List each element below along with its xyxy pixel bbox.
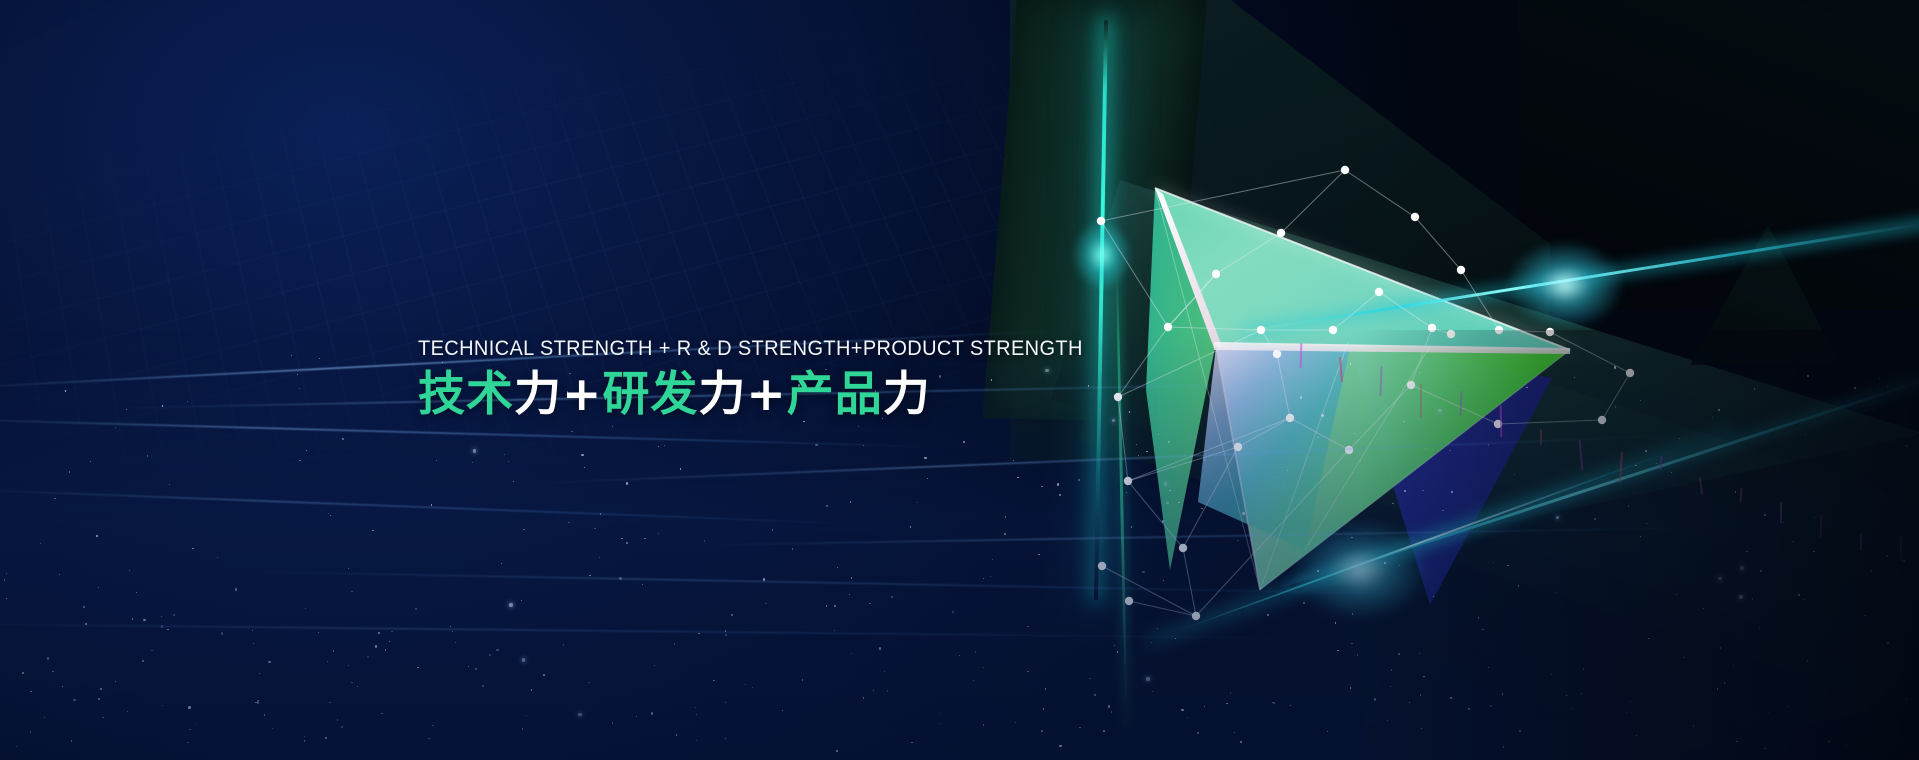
particle-dot xyxy=(1126,492,1127,493)
particle-dot xyxy=(1615,406,1616,407)
particle-dot xyxy=(1169,490,1170,491)
particle-dot xyxy=(299,460,300,461)
particle-dot xyxy=(473,449,477,453)
particle-dot xyxy=(1718,577,1722,581)
particle-dot xyxy=(415,608,417,610)
particle-dot xyxy=(30,731,31,732)
particle-dot xyxy=(1057,483,1059,485)
particle-dot xyxy=(752,687,753,688)
particle-dot xyxy=(815,444,817,446)
particle-dot xyxy=(1803,599,1804,600)
particle-dot xyxy=(143,619,145,621)
particle-dot xyxy=(513,481,514,482)
particle-dot xyxy=(1303,602,1305,604)
particle-dot xyxy=(44,717,45,718)
particle-dot xyxy=(501,563,502,564)
particle-dot xyxy=(1636,735,1637,736)
particle-dot xyxy=(1635,465,1636,466)
particle-dot xyxy=(983,724,984,725)
particle-dot xyxy=(252,630,253,631)
particle-dot xyxy=(1891,687,1892,688)
particle-dot xyxy=(1274,477,1275,478)
particle-dot xyxy=(151,650,152,651)
wave-crest-line xyxy=(0,418,940,448)
particle-dot xyxy=(802,679,803,680)
headline-text-block: TECHNICAL STRENGTH + R & D STRENGTH+PROD… xyxy=(418,336,1133,422)
particle-dot xyxy=(725,702,726,703)
particle-dot xyxy=(731,614,733,616)
particle-dot xyxy=(1754,388,1755,389)
particle-dot xyxy=(1640,536,1641,537)
particle-dot xyxy=(304,740,305,741)
particle-dot xyxy=(1646,523,1647,524)
particle-dot xyxy=(1117,651,1118,652)
particle-dot xyxy=(1873,410,1874,411)
particle-dot xyxy=(1351,537,1352,538)
particle-dot xyxy=(341,726,343,728)
particle-dot xyxy=(65,390,66,391)
particle-dot xyxy=(1108,705,1110,707)
particle-dot xyxy=(482,685,483,686)
particle-dot xyxy=(1879,378,1880,379)
particle-dot xyxy=(1197,732,1199,734)
particle-dot xyxy=(674,643,675,644)
particle-dot xyxy=(1242,512,1244,514)
particle-dot xyxy=(1733,665,1734,666)
particle-dot xyxy=(1146,677,1150,681)
particle-dot xyxy=(1384,562,1385,563)
particle-dot xyxy=(1102,541,1103,542)
particle-dot xyxy=(62,686,63,687)
particle-dot xyxy=(1798,594,1799,595)
particle-dot xyxy=(526,715,527,716)
particle-dot xyxy=(713,680,714,681)
particle-dot xyxy=(1045,688,1046,689)
particle-dot xyxy=(1178,502,1179,503)
particle-dot xyxy=(626,482,628,484)
particle-dot xyxy=(1175,638,1176,639)
particle-dot xyxy=(1626,712,1627,713)
network-node xyxy=(1457,266,1465,274)
particle-dot xyxy=(917,502,918,503)
network-node xyxy=(1097,217,1105,225)
particle-dot xyxy=(1805,434,1806,435)
particle-dot xyxy=(1391,669,1392,670)
particle-dot xyxy=(161,616,162,617)
particle-dot xyxy=(863,697,864,698)
particle-dot xyxy=(612,426,613,427)
particle-dot xyxy=(1905,445,1907,447)
particle-dot xyxy=(1759,627,1760,628)
particle-dot xyxy=(389,641,390,642)
particle-dot xyxy=(6,573,7,574)
particle-dot xyxy=(1283,485,1284,486)
particle-dot xyxy=(1881,690,1882,691)
particle-dot xyxy=(1449,450,1450,451)
particle-dot xyxy=(1335,622,1336,623)
particle-dot xyxy=(1398,653,1400,655)
particle-dot xyxy=(136,592,137,593)
particle-dot xyxy=(54,498,55,499)
network-node xyxy=(1375,288,1383,296)
particle-dot xyxy=(837,567,838,568)
particle-dot xyxy=(90,461,91,462)
particle-dot xyxy=(1163,580,1164,581)
particle-dot xyxy=(1027,671,1028,672)
particle-dot xyxy=(1337,650,1338,651)
particle-dot xyxy=(1136,444,1137,445)
particle-dot xyxy=(1493,562,1494,563)
headline-chinese-segment-3: 研发 xyxy=(602,367,698,422)
particle-dot xyxy=(1409,702,1410,703)
particle-dot xyxy=(264,714,265,715)
particle-dot xyxy=(983,667,984,668)
particle-dot xyxy=(1399,565,1400,566)
particle-dot xyxy=(297,374,298,375)
particle-dot xyxy=(695,707,696,708)
particle-dot xyxy=(47,657,49,659)
particle-dot xyxy=(259,673,260,674)
particle-dot xyxy=(850,501,851,502)
particle-dot xyxy=(432,725,433,726)
particle-dot xyxy=(173,614,174,615)
particle-dot xyxy=(1720,647,1721,648)
particle-dot xyxy=(1300,396,1302,398)
particle-dot xyxy=(1581,693,1582,694)
particle-dot xyxy=(351,591,352,592)
particle-dot xyxy=(1676,594,1677,595)
particle-dot xyxy=(696,740,697,741)
particle-dot xyxy=(651,712,653,714)
particle-dot xyxy=(725,738,726,739)
particle-dot xyxy=(167,629,168,630)
particle-dot xyxy=(1425,448,1426,449)
particle-dot xyxy=(612,722,613,723)
headline-chinese-segment-0: 技术 xyxy=(418,367,514,422)
particle-dot xyxy=(1887,642,1888,643)
particle-dot xyxy=(52,671,53,672)
particle-dot xyxy=(782,710,783,711)
particle-dot xyxy=(328,513,329,514)
particle-dot xyxy=(1152,691,1153,692)
particle-dot xyxy=(22,672,24,674)
particle-dot xyxy=(221,632,223,634)
particle-dot xyxy=(725,634,727,636)
particle-dot xyxy=(1168,441,1170,443)
particle-dot xyxy=(1230,692,1231,693)
particle-dot xyxy=(1392,503,1393,504)
particle-dot xyxy=(1181,709,1183,711)
network-edge xyxy=(1333,292,1379,330)
particle-dot xyxy=(304,736,305,737)
particle-dot xyxy=(1630,701,1631,702)
particle-dot xyxy=(834,605,835,606)
particle-dot xyxy=(100,688,102,690)
particle-dot xyxy=(939,713,940,714)
particle-dot xyxy=(4,579,5,580)
particle-dot xyxy=(765,603,766,604)
particle-dot xyxy=(1089,678,1090,679)
particle-dot xyxy=(1845,745,1846,746)
particle-dot xyxy=(1648,638,1649,639)
particle-dot xyxy=(1871,570,1872,571)
particle-dot xyxy=(1556,516,1560,520)
particle-dot xyxy=(1628,505,1629,506)
network-edge xyxy=(1379,292,1432,328)
particle-dot xyxy=(1594,518,1595,519)
particle-dot xyxy=(1854,387,1855,388)
particle-dot xyxy=(192,548,193,549)
particle-dot xyxy=(1166,502,1168,504)
particle-dot xyxy=(1321,414,1323,416)
particle-dot xyxy=(522,658,526,662)
particle-dot xyxy=(891,596,893,598)
headline-chinese-segment-2: + xyxy=(562,367,602,422)
particle-dot xyxy=(1004,533,1006,535)
particle-dot xyxy=(1724,682,1725,683)
particle-dot xyxy=(1240,741,1241,742)
particle-dot xyxy=(1267,614,1268,615)
particle-dot xyxy=(792,548,793,549)
network-edge xyxy=(1101,221,1168,327)
particle-dot xyxy=(1387,720,1388,721)
particle-dot xyxy=(1450,697,1452,699)
particle-dot xyxy=(319,358,320,359)
particle-dot xyxy=(589,575,590,576)
particle-dot xyxy=(496,649,498,651)
particle-dot xyxy=(1514,474,1515,475)
particle-dot xyxy=(1354,433,1355,434)
particle-dot xyxy=(475,668,477,670)
particle-dot xyxy=(132,618,133,619)
particle-dot xyxy=(1906,698,1907,699)
particle-dot xyxy=(330,515,331,516)
particle-dot xyxy=(1883,710,1884,711)
particle-dot xyxy=(521,600,522,601)
particle-dot xyxy=(1798,651,1799,652)
particle-dot xyxy=(73,699,75,701)
particle-dot xyxy=(879,647,881,649)
network-node xyxy=(1341,166,1349,174)
particle-dot xyxy=(187,742,188,743)
particle-dot xyxy=(1204,706,1205,707)
particle-dot xyxy=(704,540,705,541)
particle-dot xyxy=(16,746,17,747)
particle-dot xyxy=(1404,435,1405,436)
particle-dot xyxy=(1864,615,1865,616)
particle-dot xyxy=(508,461,509,462)
particle-dot xyxy=(887,690,888,691)
particle-dot xyxy=(1488,667,1489,668)
particle-dot xyxy=(1488,444,1489,445)
particle-dot xyxy=(1151,642,1152,643)
particle-dot xyxy=(1079,727,1080,728)
particle-dot xyxy=(1739,595,1743,599)
particle-dot xyxy=(102,717,103,718)
particle-dot xyxy=(142,660,144,662)
particle-dot xyxy=(1422,490,1423,491)
particle-dot xyxy=(162,405,163,406)
particle-dot xyxy=(318,632,319,633)
particle-dot xyxy=(1901,742,1902,743)
particle-dot xyxy=(924,457,926,459)
particle-dot xyxy=(600,513,601,514)
particle-dot xyxy=(1519,730,1521,732)
particle-dot xyxy=(333,650,334,651)
particle-dot xyxy=(327,661,328,662)
particle-dot xyxy=(1760,570,1762,572)
particle-dot xyxy=(305,608,306,609)
network-edge xyxy=(1415,217,1461,270)
particle-dot xyxy=(523,529,524,530)
particle-dot xyxy=(1237,540,1238,541)
particle-dot xyxy=(910,526,911,527)
particle-dot xyxy=(1693,725,1694,726)
particle-dot xyxy=(1043,708,1044,709)
particle-dot xyxy=(543,674,545,676)
particle-dot xyxy=(676,734,677,735)
particle-dot xyxy=(1041,730,1042,731)
particle-dot xyxy=(1094,694,1096,696)
headline-chinese-segment-4: 力 xyxy=(698,367,746,422)
particle-dot xyxy=(1768,712,1769,713)
particle-dot xyxy=(1764,514,1766,516)
particle-dot xyxy=(619,577,621,579)
particle-dot xyxy=(851,653,852,654)
particle-dot xyxy=(391,631,392,632)
particle-dot xyxy=(1015,722,1016,723)
network-edge xyxy=(1345,170,1415,217)
particle-dot xyxy=(1887,385,1888,386)
particle-dot xyxy=(621,538,622,539)
particle-dot xyxy=(71,740,72,741)
particle-dot xyxy=(1287,470,1288,471)
particle-dot xyxy=(375,645,377,647)
particle-dot xyxy=(1114,645,1115,646)
particle-dot xyxy=(96,535,97,536)
particle-dot xyxy=(1752,598,1753,599)
particle-dot xyxy=(698,633,699,634)
particle-dot xyxy=(489,654,491,656)
particle-dot xyxy=(1360,460,1361,461)
particle-dot xyxy=(1764,748,1765,749)
particle-dot xyxy=(325,737,327,739)
particle-dot xyxy=(680,468,681,469)
particle-dot xyxy=(1350,687,1351,688)
particle-dot xyxy=(1404,490,1406,492)
particle-dot xyxy=(1683,657,1684,658)
particle-dot xyxy=(1013,460,1014,461)
particle-dot xyxy=(568,522,569,523)
particle-dot xyxy=(329,702,330,703)
particle-dot xyxy=(1886,555,1887,556)
particle-dot xyxy=(169,484,170,485)
particle-dot xyxy=(1813,551,1814,552)
particle-dot xyxy=(826,605,827,606)
particle-dot xyxy=(1204,459,1205,460)
particle-dot xyxy=(869,603,870,604)
particle-dot xyxy=(1419,653,1420,654)
particle-dot xyxy=(1746,551,1747,552)
network-edge xyxy=(1461,270,1499,330)
particle-dot xyxy=(1350,363,1351,364)
particle-dot xyxy=(257,700,258,701)
particle-dot xyxy=(161,625,163,627)
particle-dot xyxy=(1828,741,1829,742)
particle-dot xyxy=(959,655,960,656)
particle-dot xyxy=(1551,674,1552,675)
particle-dot xyxy=(1614,366,1616,368)
particle-dot xyxy=(115,427,116,428)
particle-dot xyxy=(940,723,941,724)
particle-dot xyxy=(385,649,386,650)
particle-dot xyxy=(1468,708,1469,709)
particle-dot xyxy=(115,681,116,682)
particle-dot xyxy=(1503,746,1504,747)
particle-dot xyxy=(1317,437,1318,438)
particle-dot xyxy=(162,705,163,706)
particle-dot xyxy=(599,557,600,558)
particle-dot xyxy=(1671,472,1672,473)
particle-dot xyxy=(826,505,827,506)
particle-dot xyxy=(1111,711,1112,712)
particle-dot xyxy=(1146,451,1147,452)
particle-dot xyxy=(417,667,418,668)
wave-crest-line xyxy=(240,570,1440,595)
particle-dot xyxy=(235,588,237,590)
particle-dot xyxy=(431,504,432,505)
particle-dot xyxy=(658,446,659,447)
particle-dot xyxy=(1478,617,1479,618)
headline-chinese-segment-6: 产品 xyxy=(787,367,883,422)
particle-dot xyxy=(983,578,984,579)
particle-dot xyxy=(69,471,70,472)
particle-dot xyxy=(584,467,585,468)
particle-dot xyxy=(973,680,974,681)
particle-dot xyxy=(372,530,373,531)
particle-dot xyxy=(1566,695,1567,696)
particle-dot xyxy=(1433,596,1434,597)
particle-dot xyxy=(1814,517,1815,518)
particle-dot xyxy=(85,623,86,624)
particle-dot xyxy=(189,729,190,730)
particle-dot xyxy=(664,445,665,446)
particle-dot xyxy=(378,632,380,634)
particle-dot xyxy=(654,665,655,666)
particle-dot xyxy=(1640,400,1641,401)
particle-dot xyxy=(1502,693,1503,694)
particle-dot xyxy=(1041,486,1042,487)
particle-dot xyxy=(578,713,582,717)
particle-dot xyxy=(858,426,859,427)
particle-dot xyxy=(147,455,148,456)
particle-dot xyxy=(357,686,358,687)
particle-dot xyxy=(452,631,453,632)
particle-dot xyxy=(990,576,991,577)
particle-dot xyxy=(348,665,349,666)
particle-dot xyxy=(1187,717,1188,718)
network-node xyxy=(1411,213,1419,221)
particle-dot xyxy=(563,644,564,645)
particle-dot xyxy=(927,478,928,479)
particle-dot xyxy=(196,724,197,725)
particle-dot xyxy=(1059,745,1061,747)
particle-dot xyxy=(272,728,273,729)
particle-dot xyxy=(83,606,84,607)
particle-dot xyxy=(772,529,773,530)
particle-dot xyxy=(849,594,850,595)
particle-dot xyxy=(531,689,532,690)
